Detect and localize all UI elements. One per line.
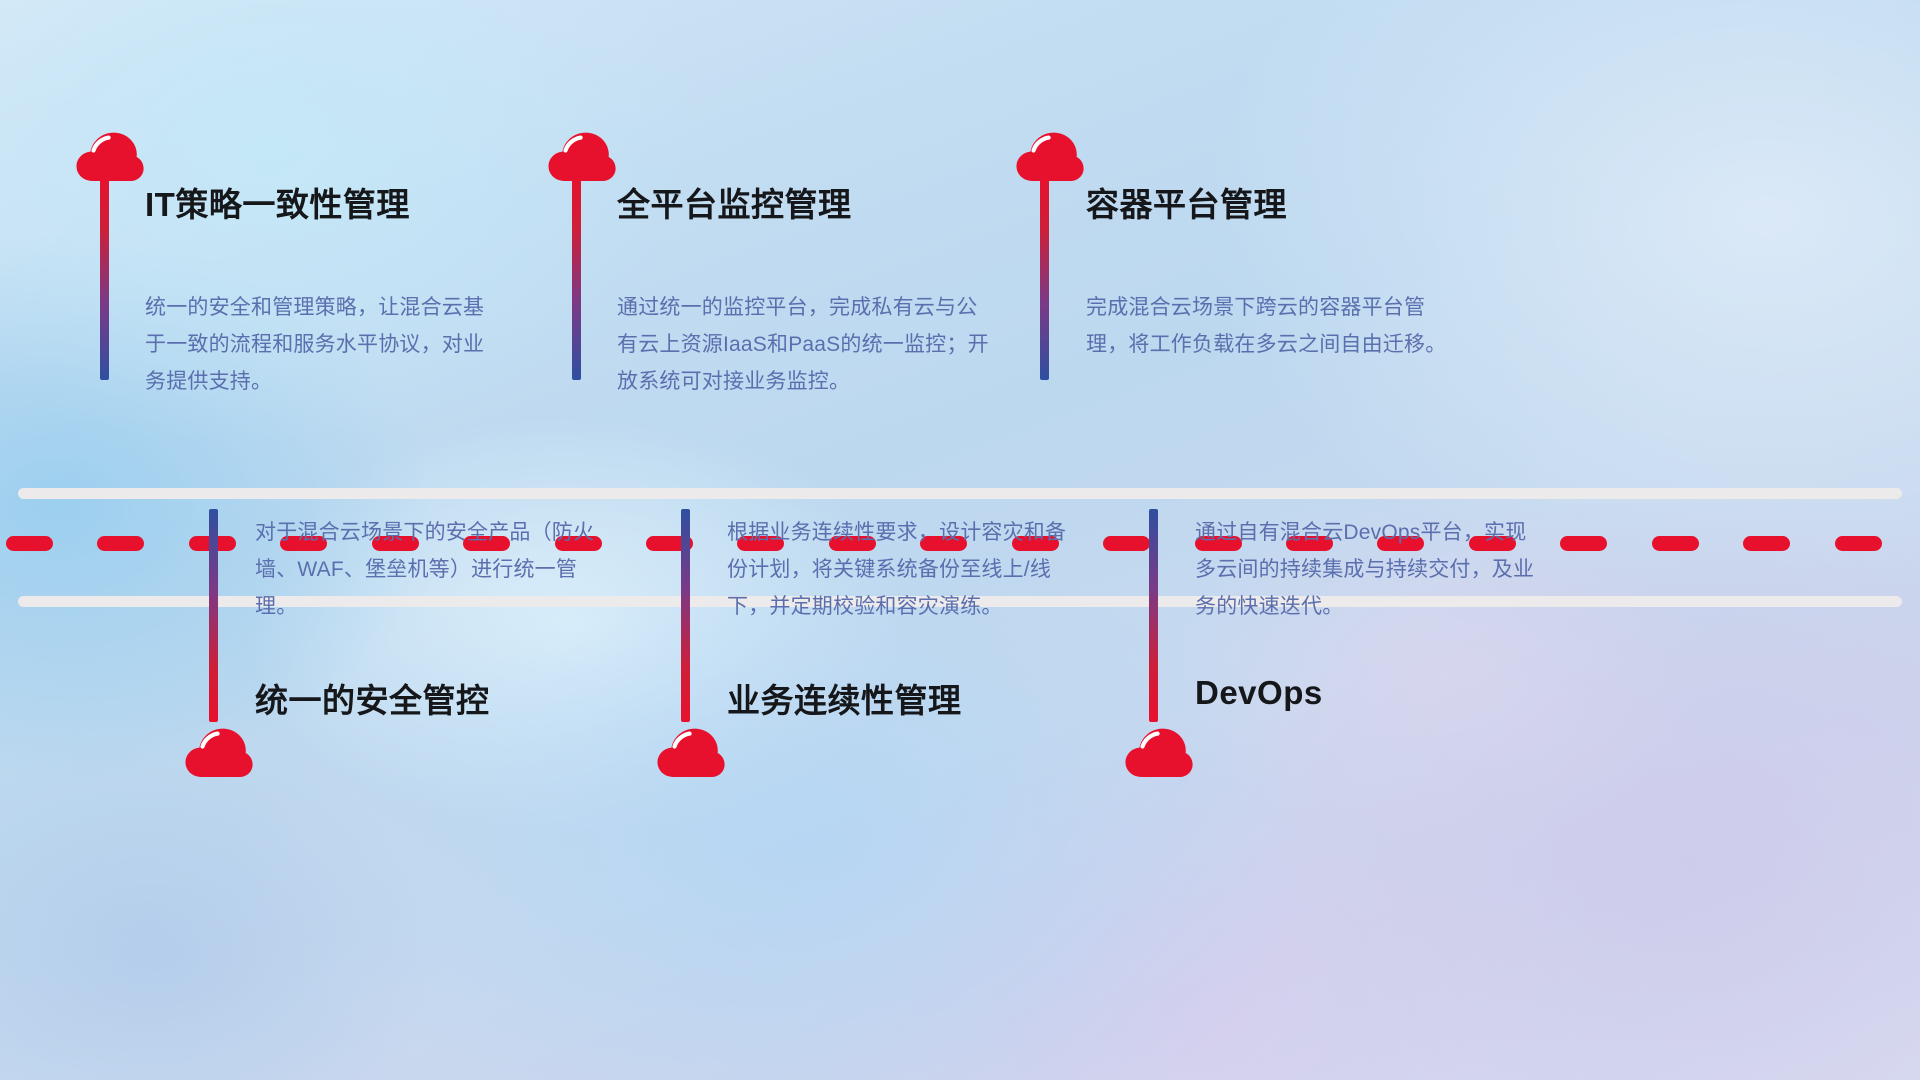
marker-stem — [1149, 509, 1158, 722]
road-edge-top — [18, 488, 1902, 499]
road-dash — [97, 536, 144, 551]
marker-description: 统一的安全和管理策略，让混合云基于一致的流程和服务水平协议，对业务提供支持。 — [145, 289, 497, 400]
cloud-pin-icon — [185, 728, 253, 778]
marker-stem — [681, 509, 690, 722]
marker-title: 统一的安全管控 — [255, 674, 490, 722]
marker-description: 对于混合云场景下的安全产品（防火墙、WAF、堡垒机等）进行统一管理。 — [255, 514, 605, 625]
marker-title: IT策略一致性管理 — [145, 178, 410, 226]
road-dash — [1743, 536, 1790, 551]
marker-title: 全平台监控管理 — [617, 178, 852, 226]
marker-stem — [1040, 176, 1049, 380]
marker-description: 通过统一的监控平台，完成私有云与公有云上资源IaaS和PaaS的统一监控；开放系… — [617, 289, 992, 400]
marker-title: 容器平台管理 — [1086, 178, 1287, 226]
marker-description: 完成混合云场景下跨云的容器平台管理，将工作负载在多云之间自由迁移。 — [1086, 289, 1454, 363]
road-dash — [1103, 536, 1150, 551]
road-dash — [1560, 536, 1607, 551]
cloud-pin-icon — [657, 728, 725, 778]
marker-title: DevOps — [1195, 674, 1323, 712]
marker-description: 通过自有混合云DevOps平台，实现多云间的持续集成与持续交付，及业务的快速迭代… — [1195, 514, 1535, 625]
marker-stem — [572, 176, 581, 380]
cloud-pin-icon — [1016, 132, 1084, 182]
road-dash — [1652, 536, 1699, 551]
marker-title: 业务连续性管理 — [727, 674, 962, 722]
cloud-pin-icon — [76, 132, 144, 182]
marker-description: 根据业务连续性要求，设计容灾和备份计划，将关键系统备份至线上/线下，并定期校验和… — [727, 514, 1077, 625]
marker-stem — [100, 176, 109, 380]
road-dash — [6, 536, 53, 551]
cloud-pin-icon — [548, 132, 616, 182]
cloud-pin-icon — [1125, 728, 1193, 778]
marker-stem — [209, 509, 218, 722]
road-dash — [1835, 536, 1882, 551]
